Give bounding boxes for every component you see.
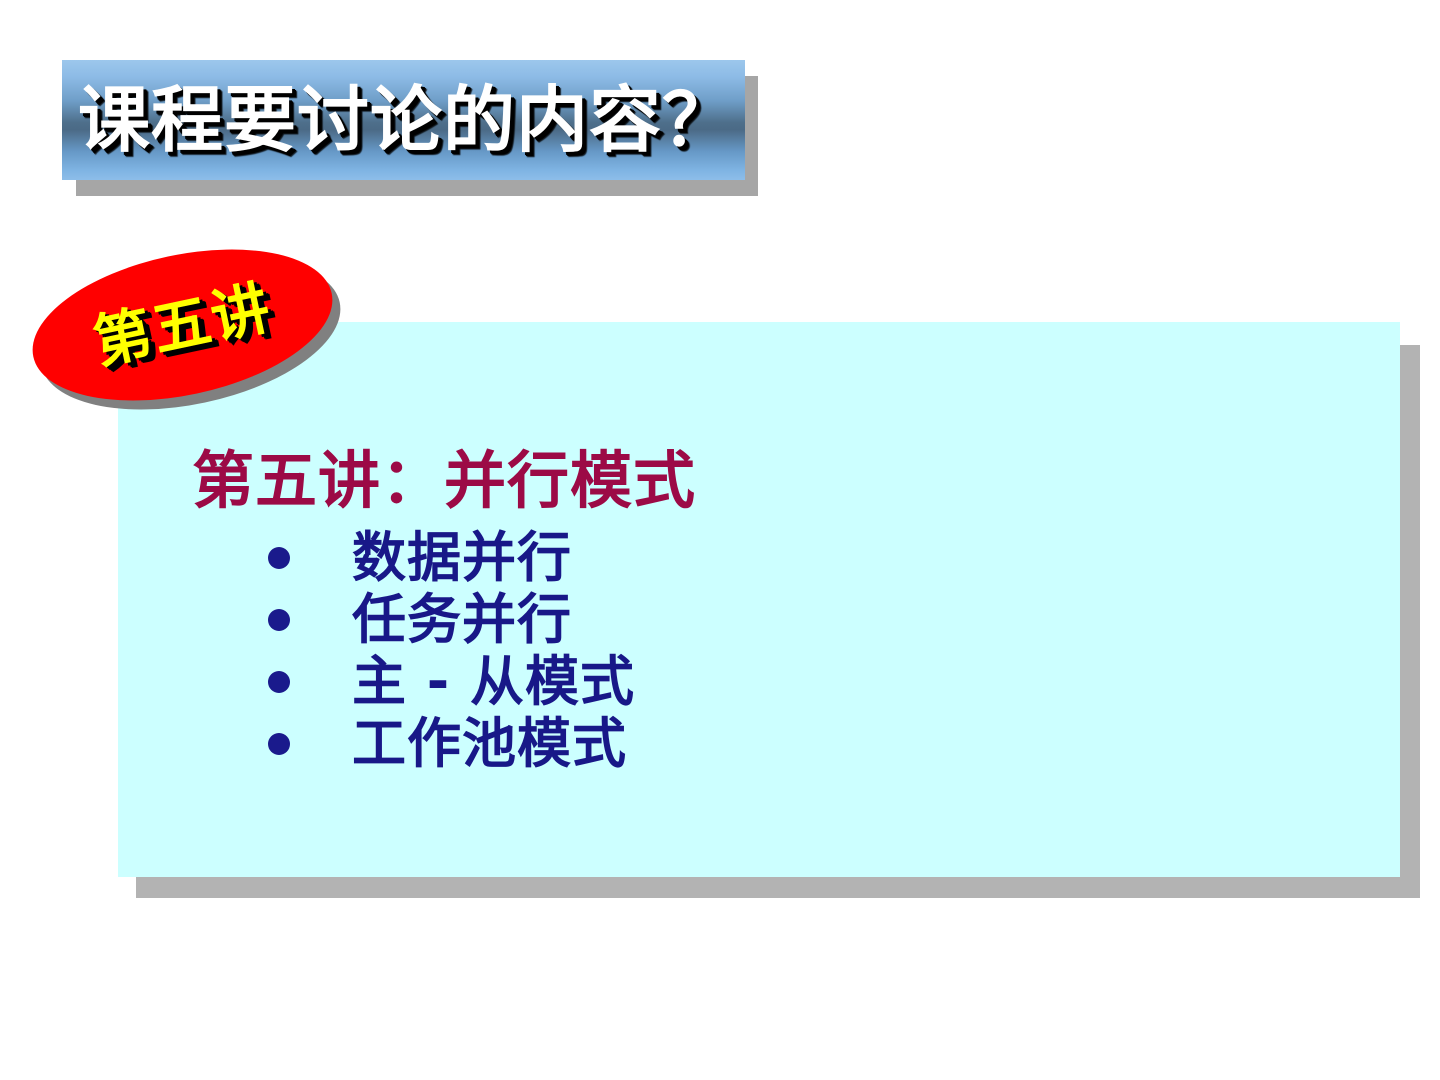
bullet-label: 数据并行 [352, 531, 572, 585]
bullet-dot-icon [268, 547, 290, 569]
slide-canvas: 课程要讨论的内容？ 第五讲：并行模式 数据并行 任务并行 主 - 从模式 工作池… [0, 0, 1440, 1080]
lecture-badge: 第五讲 [24, 250, 354, 415]
bullet-label: 主 - 从模式 [352, 655, 635, 709]
slide-title: 课程要讨论的内容？ [78, 84, 735, 156]
title-banner: 课程要讨论的内容？ [62, 60, 745, 180]
content-heading: 第五讲：并行模式 [192, 448, 696, 513]
bullet-list: 数据并行 任务并行 主 - 从模式 工作池模式 [192, 527, 635, 775]
list-item: 数据并行 [192, 527, 635, 589]
list-item: 主 - 从模式 [192, 651, 635, 713]
bullet-label: 任务并行 [352, 593, 572, 647]
list-item: 任务并行 [192, 589, 635, 651]
lecture-badge-label: 第五讲 [88, 278, 276, 372]
list-item: 工作池模式 [192, 713, 635, 775]
bullet-dot-icon [268, 733, 290, 755]
bullet-label: 工作池模式 [352, 717, 627, 771]
bullet-dot-icon [268, 671, 290, 693]
bullet-dot-icon [268, 609, 290, 631]
